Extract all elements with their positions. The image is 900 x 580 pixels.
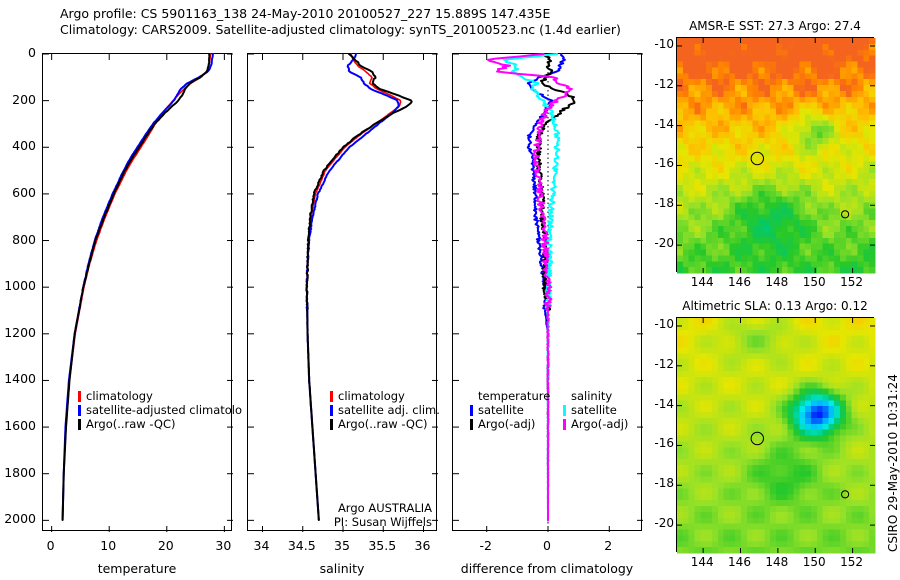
temperature-panel[interactable] — [42, 53, 232, 531]
title-line-2: Climatology: CARS2009. Satellite-adjuste… — [60, 22, 621, 37]
salinity-panel[interactable] — [247, 53, 437, 531]
temperature-plot-area — [43, 54, 233, 532]
temperature-axis-label: temperature — [42, 561, 232, 576]
legend-entry: Argo(-adj) — [470, 417, 550, 431]
legend-label: climatology — [86, 389, 153, 403]
legend-label: Argo(-adj) — [478, 417, 535, 431]
sst-map[interactable] — [676, 37, 874, 272]
difference-axis-label: difference from climatology — [442, 561, 652, 576]
legend-color-swatch — [78, 391, 81, 402]
difference-plot-area — [453, 54, 643, 532]
title-line-1: Argo profile: CS 5901163_138 24-May-2010… — [60, 6, 550, 21]
sst-map-canvas — [677, 38, 875, 273]
legend-label: satellite — [571, 403, 617, 417]
legend-label: satellite — [478, 403, 524, 417]
credit-line-2: PI: Susan Wijffels — [334, 515, 432, 529]
legend-header: temperature — [470, 389, 550, 403]
salinity-legend: climatologysatellite adj. clim.Argo(..ra… — [330, 389, 440, 431]
plot-title: Argo profile: CS 5901163_138 24-May-2010… — [60, 6, 621, 38]
sla-map-title: Altimetric SLA: 0.13 Argo: 0.12 — [660, 299, 890, 313]
legend-color-swatch — [330, 419, 333, 430]
legend-label: Argo(..raw -QC) — [338, 417, 428, 431]
legend-header: salinity — [563, 389, 628, 403]
legend-entry: climatology — [78, 389, 242, 403]
legend-label: climatology — [338, 389, 405, 403]
legend-entry: satellite-adjusted climatolo — [78, 403, 242, 417]
temperature-legend: climatologysatellite-adjusted climatoloA… — [78, 389, 242, 431]
difference-legend-salinity: salinitysatelliteArgo(-adj) — [563, 389, 628, 431]
legend-color-swatch — [330, 391, 333, 402]
sla-map-canvas — [677, 318, 875, 553]
legend-entry: satellite — [470, 403, 550, 417]
legend-label: Argo(..raw -QC) — [86, 417, 176, 431]
legend-entry: Argo(-adj) — [563, 417, 628, 431]
difference-panel[interactable] — [452, 53, 642, 531]
legend-label: satellite-adjusted climatolo — [86, 403, 242, 417]
credit-line-1: Argo AUSTRALIA — [338, 501, 432, 515]
difference-legend-temperature: temperaturesatelliteArgo(-adj) — [470, 389, 550, 431]
legend-color-swatch — [78, 419, 81, 430]
legend-color-swatch — [470, 405, 473, 416]
legend-color-swatch — [470, 419, 473, 430]
legend-color-swatch — [330, 405, 333, 416]
argo-credit: Argo AUSTRALIA PI: Susan Wijffels — [287, 501, 432, 529]
legend-entry: climatology — [330, 389, 440, 403]
legend-label: satellite adj. clim. — [338, 403, 440, 417]
legend-entry: Argo(..raw -QC) — [78, 417, 242, 431]
legend-entry: satellite — [563, 403, 628, 417]
csiro-timestamp: CSIRO 29-May-2010 10:31:24 — [886, 374, 900, 552]
legend-color-swatch — [563, 405, 566, 416]
sst-map-title: AMSR-E SST: 27.3 Argo: 27.4 — [660, 19, 890, 33]
legend-color-swatch — [563, 419, 566, 430]
legend-entry: satellite adj. clim. — [330, 403, 440, 417]
sla-map[interactable] — [676, 317, 874, 552]
legend-color-swatch — [78, 405, 81, 416]
legend-entry: Argo(..raw -QC) — [330, 417, 440, 431]
salinity-plot-area — [248, 54, 438, 532]
salinity-axis-label: salinity — [247, 561, 437, 576]
legend-label: Argo(-adj) — [571, 417, 628, 431]
